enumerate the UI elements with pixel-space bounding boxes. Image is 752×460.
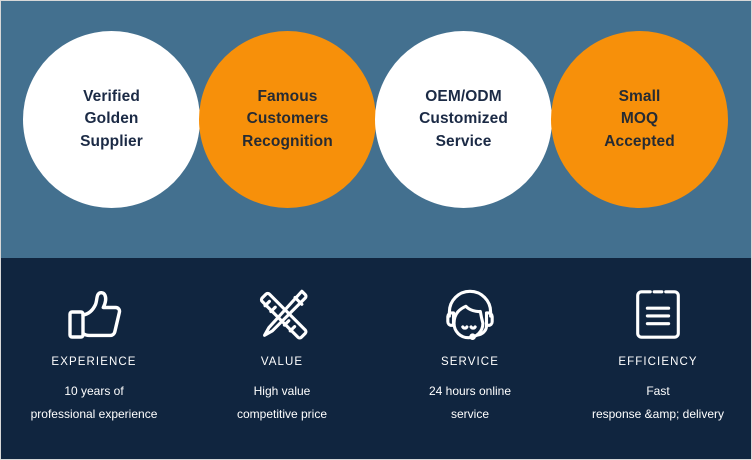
advantage-circle-2: Famous Customers Recognition bbox=[199, 31, 376, 208]
feature-desc-line-2: service bbox=[429, 403, 511, 426]
advantage-circle-3: OEM/ODM Customized Service bbox=[375, 31, 552, 208]
feature-title: SERVICE bbox=[441, 356, 499, 368]
advantage-circle-4-label: Small MOQ Accepted bbox=[596, 86, 683, 152]
advantage-circle-3-label: OEM/ODM Customized Service bbox=[411, 86, 516, 152]
feature-efficiency: EFFICIENCY Fast response &amp; delivery bbox=[564, 258, 752, 427]
advantage-4-line-3: Accepted bbox=[604, 131, 675, 153]
feature-description: High value competitive price bbox=[237, 380, 327, 427]
advantage-circle-4: Small MOQ Accepted bbox=[551, 31, 728, 208]
advantage-circle-1: Verified Golden Supplier bbox=[23, 31, 200, 208]
feature-desc-line-2: response &amp; delivery bbox=[592, 403, 724, 426]
pencil-ruler-icon bbox=[251, 278, 313, 350]
advantage-3-line-1: OEM/ODM bbox=[419, 86, 508, 108]
feature-desc-line-2: competitive price bbox=[237, 403, 327, 426]
feature-title: EXPERIENCE bbox=[51, 356, 136, 368]
feature-description: Fast response &amp; delivery bbox=[592, 380, 724, 427]
advantages-banner: OUR ADVANTAGES Verified Golden Supplier … bbox=[0, 0, 752, 460]
feature-title: EFFICIENCY bbox=[618, 356, 697, 368]
advantage-2-line-3: Recognition bbox=[242, 131, 333, 153]
clipboard-icon bbox=[629, 278, 687, 350]
feature-title: VALUE bbox=[261, 356, 303, 368]
thumbs-up-icon bbox=[62, 278, 126, 350]
feature-desc-line-2: professional experience bbox=[31, 403, 158, 426]
advantage-circle-2-label: Famous Customers Recognition bbox=[234, 86, 341, 152]
advantage-2-line-2: Customers bbox=[242, 108, 333, 130]
advantage-4-line-2: MOQ bbox=[604, 108, 675, 130]
advantage-3-line-3: Service bbox=[419, 131, 508, 153]
features-band: EXPERIENCE 10 years of professional expe… bbox=[0, 258, 752, 460]
clipped-heading: OUR ADVANTAGES bbox=[72, 0, 200, 4]
feature-desc-line-1: High value bbox=[237, 380, 327, 403]
feature-value: VALUE High value competitive price bbox=[188, 258, 376, 427]
feature-desc-line-1: 24 hours online bbox=[429, 380, 511, 403]
feature-desc-line-1: 10 years of bbox=[31, 380, 158, 403]
advantage-1-line-1: Verified bbox=[80, 86, 143, 108]
feature-service: SERVICE 24 hours online service bbox=[376, 258, 564, 427]
headset-support-icon bbox=[437, 278, 503, 350]
advantage-2-line-1: Famous bbox=[242, 86, 333, 108]
advantage-3-line-2: Customized bbox=[419, 108, 508, 130]
advantages-circles-band: OUR ADVANTAGES Verified Golden Supplier … bbox=[0, 0, 752, 258]
advantage-1-line-2: Golden bbox=[80, 108, 143, 130]
advantage-4-line-1: Small bbox=[604, 86, 675, 108]
feature-description: 24 hours online service bbox=[429, 380, 511, 427]
advantage-circle-1-label: Verified Golden Supplier bbox=[72, 86, 151, 152]
feature-experience: EXPERIENCE 10 years of professional expe… bbox=[0, 258, 188, 427]
advantage-1-line-3: Supplier bbox=[80, 131, 143, 153]
feature-desc-line-1: Fast bbox=[592, 380, 724, 403]
feature-description: 10 years of professional experience bbox=[31, 380, 158, 427]
